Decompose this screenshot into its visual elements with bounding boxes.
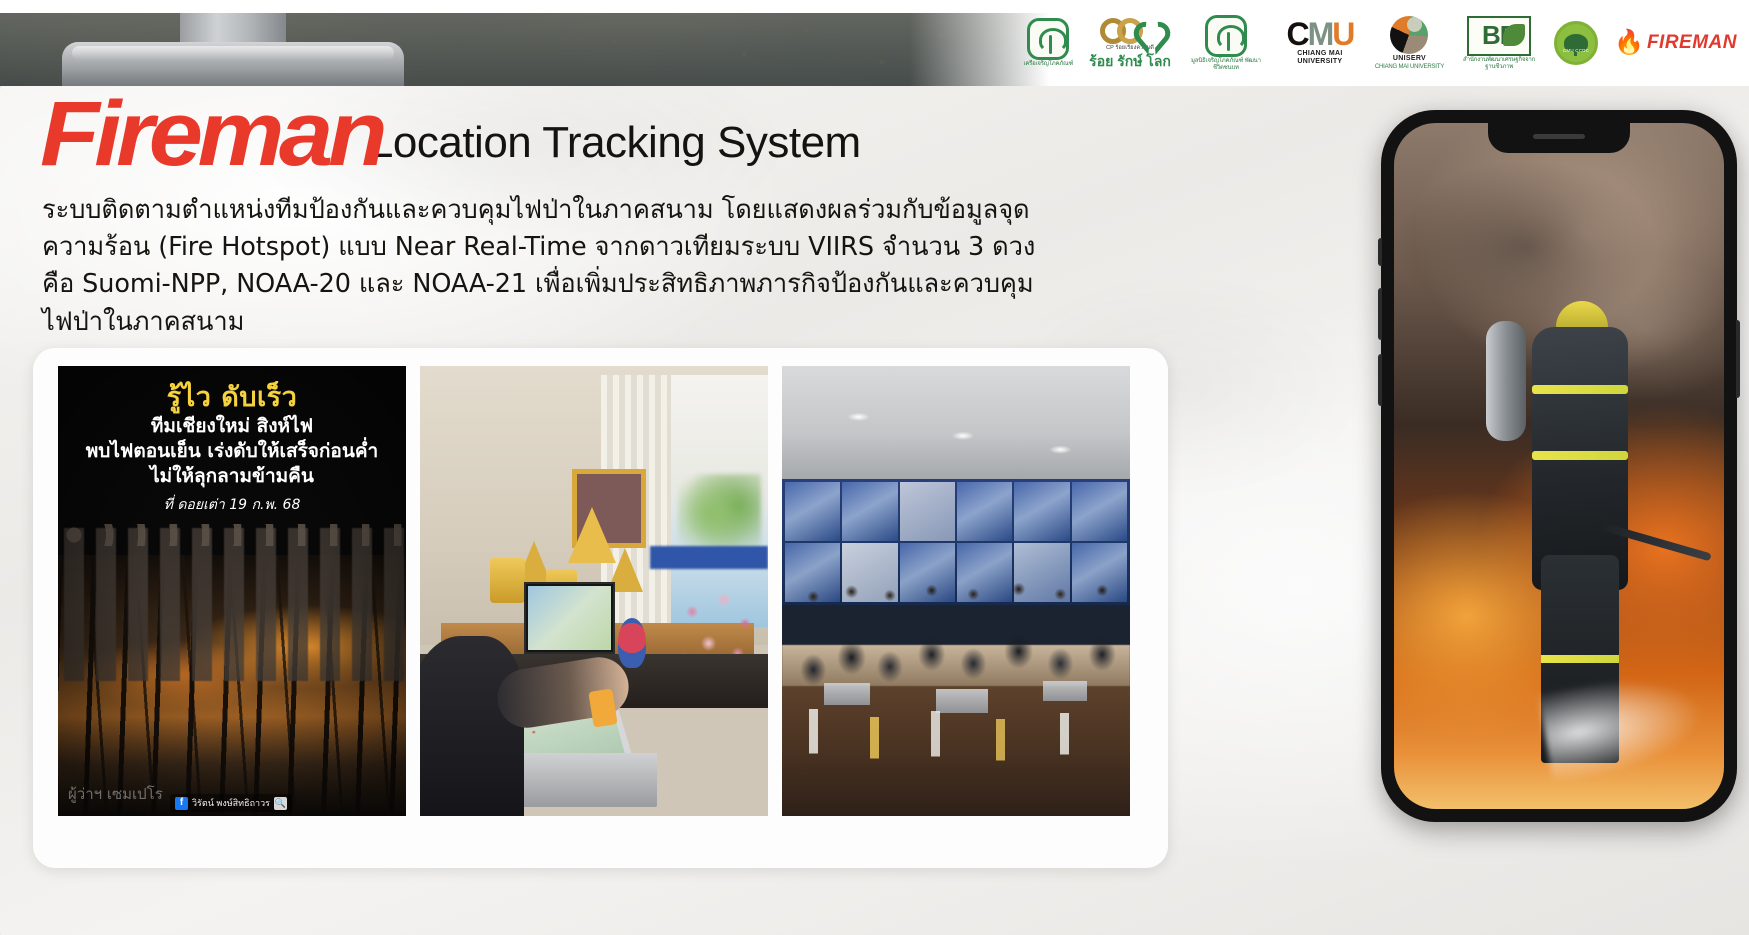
cmu-ccdc-logo: CMU CCDC	[1554, 7, 1598, 79]
earpiece-speaker-icon	[1533, 134, 1585, 139]
poster-overlay-text: รู้ไว ดับเร็ว ทีมเชียงใหม่ สิงห์ไฟ พบไฟต…	[58, 382, 406, 516]
phone-mute-switch[interactable]	[1378, 238, 1382, 266]
cp-title: ร้อย รักษ์ โลก	[1089, 54, 1171, 68]
desktop-monitor	[524, 582, 614, 654]
poster-date-location: ที่ ดอยเต่า 19 ก.พ. 68	[58, 494, 406, 516]
bedo-mark-icon: BE	[1467, 16, 1531, 56]
uniserv-caption: UNISERV	[1393, 55, 1426, 63]
seated-person	[420, 636, 524, 816]
facebook-credit-text: วิรัตน์ พงษ์สิทธิถาวร	[192, 796, 270, 810]
reflective-stripe	[1541, 655, 1619, 663]
fireman-poster: เครือเจริญโภคภัณฑ์ CP ร้อยเรียงความดี ร้…	[0, 0, 1749, 935]
photo-office-laptop-map	[420, 366, 768, 816]
poster-line-2: ทีมเชียงใหม่ สิงห์ไฟ	[58, 414, 406, 439]
reflective-stripe	[1532, 385, 1628, 394]
cp-roi-rak-lok-logo: CP ร้อยเรียงความดี ร้อย รักษ์ โลก	[1089, 7, 1171, 79]
phone-volume-down-button[interactable]	[1378, 354, 1382, 406]
fireman-logo: 🔥 FIREMAN	[1614, 7, 1737, 79]
facebook-credit-bar: f วิรัตน์ พงษ์สิทธิถาวร 🔍	[170, 794, 292, 812]
flame-icon: 🔥	[1614, 31, 1644, 55]
firefighting-tool-icon	[62, 0, 404, 96]
facebook-icon: f	[175, 797, 188, 810]
uniserv-logo: UNISERV CHIANG MAI UNIVERSITY	[1375, 7, 1444, 79]
page-title: Fireman Location Tracking System	[40, 95, 861, 173]
leaf-icon	[1027, 18, 1069, 60]
cmu-caption: CHIANG MAI UNIVERSITY	[1281, 50, 1359, 66]
leaf-logo-1-caption: เครือเจริญโภคภัณฑ์	[1023, 61, 1073, 68]
leaf-logo-1: เครือเจริญโภคภัณฑ์	[1023, 7, 1073, 79]
air-tank	[1486, 321, 1526, 441]
desk-figurine	[618, 618, 646, 668]
photo-strip: รู้ไว ดับเร็ว ทีมเชียงใหม่ สิงห์ไฟ พบไฟต…	[58, 366, 1130, 816]
cp-rings-heart-icon	[1100, 18, 1161, 44]
phone-power-button[interactable]	[1736, 320, 1740, 398]
search-icon: 🔍	[274, 797, 287, 810]
uniserv-circle-icon	[1390, 16, 1428, 54]
tree-circle-icon: CMU CCDC	[1554, 21, 1598, 65]
ccdc-caption: CMU CCDC	[1563, 48, 1589, 53]
brand-title: Fireman	[40, 95, 382, 173]
photo-war-room-meeting	[782, 366, 1130, 816]
attendee-heads	[782, 564, 1130, 627]
bedo-caption: สำนักงานพัฒนาเศรษฐกิจจากฐานชีวภาพ	[1460, 57, 1538, 71]
photo-gallery-card: รู้ไว ดับเร็ว ทีมเชียงใหม่ สิงห์ไฟ พบไฟต…	[33, 348, 1168, 868]
leaf-icon	[1205, 15, 1247, 57]
description-text: ระบบติดตามตำแหน่งทีมป้องกันและควบคุมไฟป่…	[42, 192, 1052, 341]
phone-notch	[1488, 123, 1630, 153]
poster-watermark: ผู้ว่าฯ เซมเปโร	[68, 786, 163, 802]
partner-logo-row: เครือเจริญโภคภัณฑ์ CP ร้อยเรียงความดี ร้…	[1023, 6, 1737, 80]
monitor-map-screen	[528, 586, 610, 650]
fireman-wordmark-text: FIREMAN	[1647, 32, 1737, 54]
reflective-stripe	[1532, 451, 1628, 460]
poster-line-3: พบไฟตอนเย็น เร่งดับให้เสร็จก่อนค่ำ	[58, 439, 406, 464]
poster-line-4: ไม่ให้ลุกลามข้ามคืน	[58, 464, 406, 489]
leaf-logo-2-caption: มูลนิธิเจริญโภคภัณฑ์ พัฒนาชีวิตชนบท	[1187, 58, 1265, 72]
bedo-logo: BE สำนักงานพัฒนาเศรษฐกิจจากฐานชีวภาพ	[1460, 7, 1538, 79]
cmu-logo: CMU CHIANG MAI UNIVERSITY	[1281, 7, 1359, 79]
cmu-wordmark-icon: CMU	[1286, 20, 1353, 49]
wrist-band	[588, 688, 618, 727]
buddha-statue	[490, 558, 525, 602]
phone-screen[interactable]	[1394, 123, 1724, 809]
subtitle: Location Tracking System	[369, 121, 861, 173]
phone-mockup	[1381, 110, 1737, 822]
poster-headline: รู้ไว ดับเร็ว	[58, 382, 406, 414]
water-bottles	[782, 699, 1130, 798]
phone-volume-up-button[interactable]	[1378, 288, 1382, 340]
photo-night-briefing-poster: รู้ไว ดับเร็ว ทีมเชียงใหม่ สิงห์ไฟ พบไฟต…	[58, 366, 406, 816]
leaf-logo-2: มูลนิธิเจริญโภคภัณฑ์ พัฒนาชีวิตชนบท	[1187, 7, 1265, 79]
outdoor-greenery	[678, 474, 762, 555]
uniserv-subcaption: CHIANG MAI UNIVERSITY	[1375, 64, 1444, 71]
fireman-wordmark-icon: 🔥 FIREMAN	[1614, 31, 1737, 55]
ceiling-lights	[782, 398, 1130, 461]
